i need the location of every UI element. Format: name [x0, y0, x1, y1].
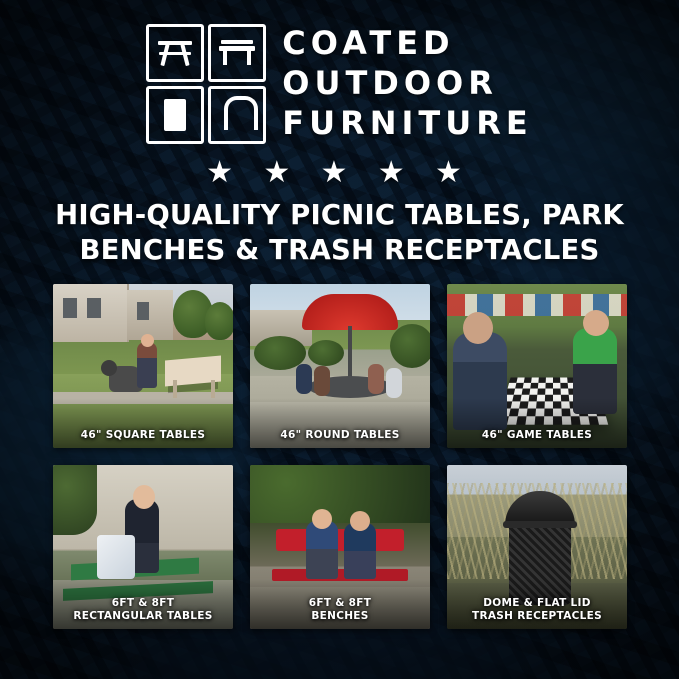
caption-line-2: RECTANGULAR TABLES	[53, 610, 233, 622]
brand-wordmark: COATED OUTDOOR FURNITURE	[282, 25, 532, 142]
gallery-caption: 46" ROUND TABLES	[250, 429, 430, 441]
gallery-caption: 6FT & 8FT RECTANGULAR TABLES	[53, 597, 233, 622]
brand-word-furniture: FURNITURE	[282, 105, 532, 143]
brand-word-outdoor: OUTDOOR	[282, 65, 532, 103]
gallery-caption: 46" GAME TABLES	[447, 429, 627, 441]
gallery-caption: DOME & FLAT LID TRASH RECEPTACLES	[447, 597, 627, 622]
caption-line-1: DOME & FLAT LID	[447, 597, 627, 609]
caption-line-1: 46" GAME TABLES	[447, 429, 627, 441]
star-rating: ★ ★ ★ ★ ★	[0, 158, 679, 188]
gallery-tile-round-tables[interactable]: 46" ROUND TABLES	[250, 284, 430, 448]
headline: HIGH-QUALITY PICNIC TABLES, PARK BENCHES…	[0, 198, 679, 268]
trash-receptacle-icon	[146, 86, 204, 144]
caption-line-1: 46" SQUARE TABLES	[53, 429, 233, 441]
brand-word-coated: COATED	[282, 25, 532, 63]
product-gallery-grid: 46" SQUARE TABLES	[53, 284, 627, 629]
dome-lid-receptacle-icon	[208, 86, 266, 144]
gallery-tile-benches[interactable]: 6FT & 8FT BENCHES	[250, 465, 430, 629]
caption-line-2: BENCHES	[250, 610, 430, 622]
product-banner-image: COATED OUTDOOR FURNITURE ★ ★ ★ ★ ★ HIGH-…	[0, 0, 679, 679]
gallery-tile-trash-receptacles[interactable]: DOME & FLAT LID TRASH RECEPTACLES	[447, 465, 627, 629]
park-bench-icon	[208, 24, 266, 82]
picnic-table-icon	[146, 24, 204, 82]
gallery-tile-rectangular-tables[interactable]: 6FT & 8FT RECTANGULAR TABLES	[53, 465, 233, 629]
gallery-tile-game-tables[interactable]: 46" GAME TABLES	[447, 284, 627, 448]
gallery-caption: 6FT & 8FT BENCHES	[250, 597, 430, 622]
gallery-caption: 46" SQUARE TABLES	[53, 429, 233, 441]
caption-line-1: 6FT & 8FT	[53, 597, 233, 609]
logo-mark	[146, 24, 266, 144]
headline-line-1: HIGH-QUALITY PICNIC TABLES, PARK	[0, 198, 679, 233]
caption-line-2: TRASH RECEPTACLES	[447, 610, 627, 622]
caption-line-1: 46" ROUND TABLES	[250, 429, 430, 441]
headline-line-2: BENCHES & TRASH RECEPTACLES	[0, 233, 679, 268]
brand-logo: COATED OUTDOOR FURNITURE	[0, 24, 679, 144]
caption-line-1: 6FT & 8FT	[250, 597, 430, 609]
gallery-tile-square-tables[interactable]: 46" SQUARE TABLES	[53, 284, 233, 448]
